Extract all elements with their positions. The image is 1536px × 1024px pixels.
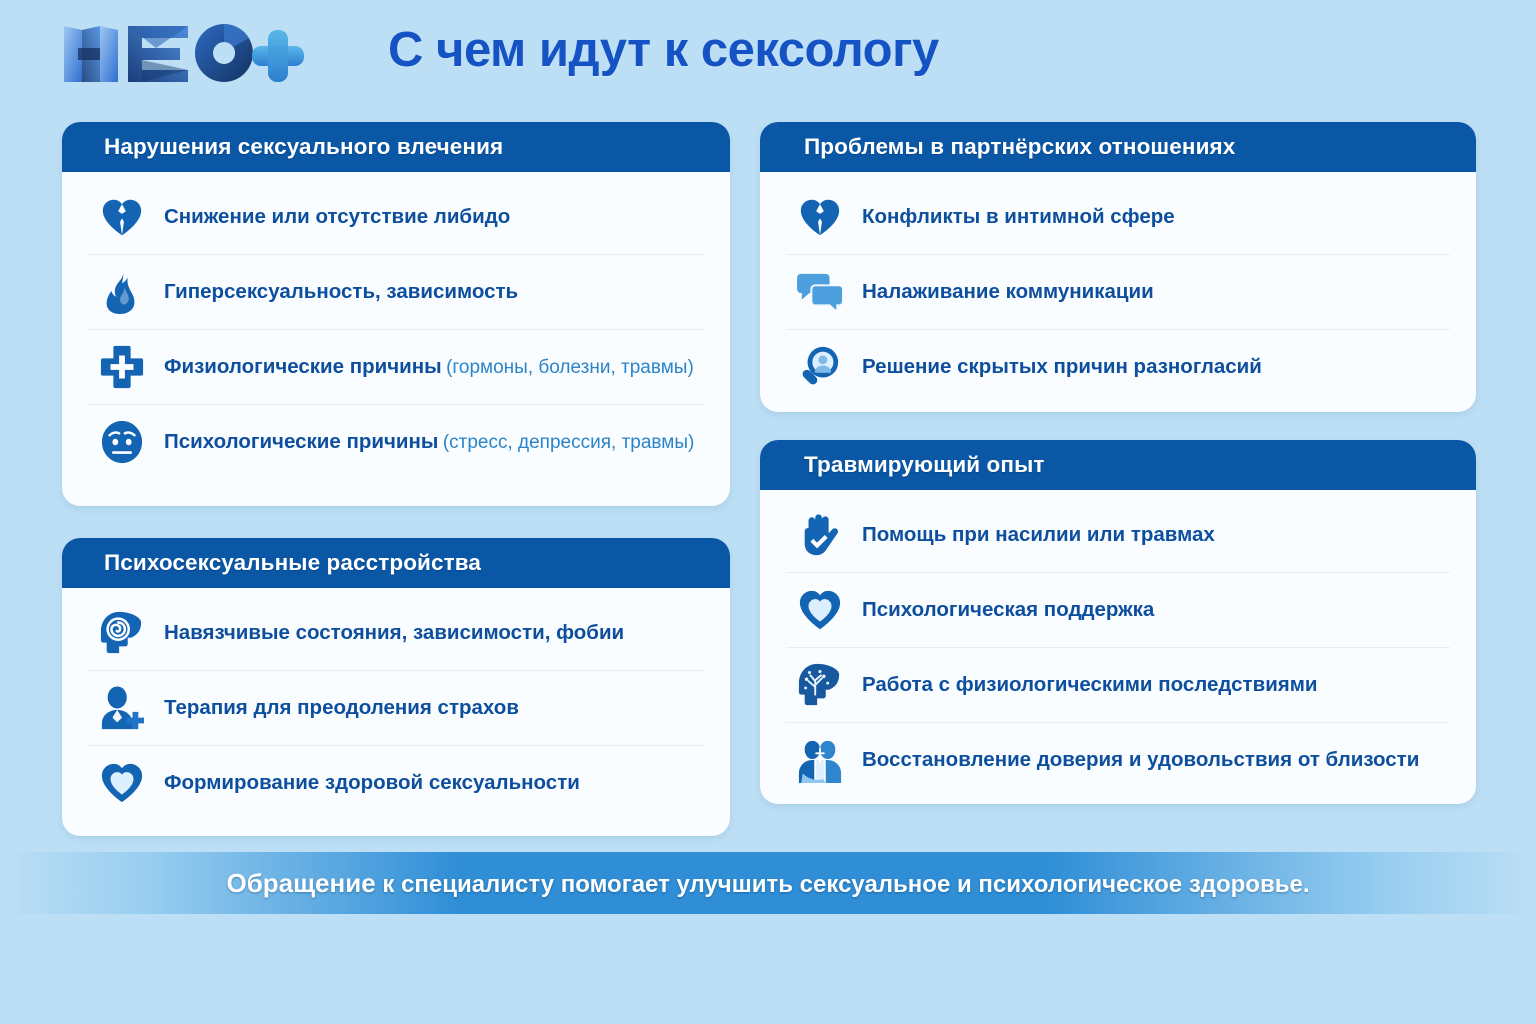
list-item-text: Решение скрытых причин разногласий bbox=[862, 356, 1262, 379]
card-header: Травмирующий опыт bbox=[760, 440, 1476, 490]
list-item[interactable]: Работа с физиологическими последствиями bbox=[786, 648, 1450, 723]
list-item-sublabel: (гормоны, болезни, травмы) bbox=[446, 357, 694, 378]
list-item-label: Гиперсексуальность, зависимость bbox=[164, 280, 518, 303]
list-item[interactable]: Терапия для преодоления страхов bbox=[88, 671, 704, 746]
list-item[interactable]: Психологическая поддержка bbox=[786, 573, 1450, 648]
speech-bubbles-icon bbox=[794, 266, 846, 318]
stop-hand-icon bbox=[794, 509, 846, 561]
list-item[interactable]: Восстановление доверия и удовольствия от… bbox=[786, 723, 1450, 797]
person-plus-icon bbox=[96, 682, 148, 734]
list-item-text: Психологическая поддержка bbox=[862, 599, 1154, 622]
list-item[interactable]: Решение скрытых причин разногласий bbox=[786, 330, 1450, 404]
list-item-label: Физиологические причины bbox=[164, 355, 442, 378]
list-item-label: Терапия для преодоления страхов bbox=[164, 696, 519, 719]
header: С чем идут к сексологу bbox=[0, 0, 1536, 112]
list-item-label: Решение скрытых причин разногласий bbox=[862, 355, 1262, 378]
card-title: Психосексуальные расстройства bbox=[104, 550, 481, 576]
card-header: Проблемы в партнёрских отношениях bbox=[760, 122, 1476, 172]
card-body: Помощь при насилии или травмах Психологи… bbox=[760, 490, 1476, 804]
broken-heart-icon bbox=[794, 191, 846, 243]
neo-plus-logo bbox=[56, 18, 306, 90]
list-item[interactable]: Физиологические причины (гормоны, болезн… bbox=[88, 330, 704, 405]
magnifier-person-icon bbox=[794, 341, 846, 393]
footer-banner: Обращение к специалисту помогает улучшит… bbox=[0, 852, 1536, 914]
list-item-text: Восстановление доверия и удовольствия от… bbox=[862, 749, 1419, 772]
list-item-text: Снижение или отсутствие либидо bbox=[164, 206, 510, 229]
list-item-label: Психологические причины bbox=[164, 430, 438, 453]
card-title: Травмирующий опыт bbox=[804, 452, 1045, 478]
card-traumatic-experience: Травмирующий опыт Помощь при насилии или… bbox=[760, 440, 1476, 804]
list-item-label: Налаживание коммуникации bbox=[862, 280, 1154, 303]
footer-lead: Обращение bbox=[226, 868, 375, 898]
footer-rest: к специалисту помогает улучшить сексуаль… bbox=[376, 871, 1310, 898]
list-item-label: Работа с физиологическими последствиями bbox=[862, 673, 1318, 696]
list-item-text: Физиологические причины (гормоны, болезн… bbox=[164, 356, 694, 379]
card-body: Навязчивые состояния, зависимости, фобии… bbox=[62, 588, 730, 832]
medical-cross-icon bbox=[96, 341, 148, 393]
list-item-label: Помощь при насилии или травмах bbox=[862, 523, 1215, 546]
card-title: Нарушения сексуального влечения bbox=[104, 134, 503, 160]
couple-embrace-icon bbox=[794, 734, 846, 786]
list-item-label: Формирование здоровой сексуальности bbox=[164, 771, 580, 794]
list-item[interactable]: Формирование здоровой сексуальности bbox=[88, 746, 704, 820]
card-sexual-desire-disorders: Нарушения сексуального влечения Снижение… bbox=[62, 122, 730, 506]
heart-in-heart-icon bbox=[96, 757, 148, 809]
list-item-label: Навязчивые состояния, зависимости, фобии bbox=[164, 621, 624, 644]
card-title: Проблемы в партнёрских отношениях bbox=[804, 134, 1235, 160]
card-psychosexual-disorders: Психосексуальные расстройства Навязчивые… bbox=[62, 538, 730, 836]
infographic-canvas: С чем идут к сексологу Нарушения сексуал… bbox=[0, 0, 1536, 1024]
list-item-sublabel: (стресс, депрессия, травмы) bbox=[443, 432, 695, 453]
list-item-text: Налаживание коммуникации bbox=[862, 281, 1154, 304]
list-item-text: Конфликты в интимной сфере bbox=[862, 206, 1175, 229]
list-item-text: Помощь при насилии или травмах bbox=[862, 524, 1215, 547]
head-tree-icon bbox=[794, 659, 846, 711]
page-title: С чем идут к сексологу bbox=[388, 22, 939, 78]
list-item[interactable]: Гиперсексуальность, зависимость bbox=[88, 255, 704, 330]
footer-text: Обращение к специалисту помогает улучшит… bbox=[226, 868, 1309, 899]
list-item-label: Восстановление доверия и удовольствия от… bbox=[862, 748, 1419, 771]
head-spiral-icon bbox=[96, 607, 148, 659]
list-item-label: Конфликты в интимной сфере bbox=[862, 205, 1175, 228]
card-body: Снижение или отсутствие либидо Гиперсекс… bbox=[62, 172, 730, 491]
list-item-text: Формирование здоровой сексуальности bbox=[164, 772, 580, 795]
list-item[interactable]: Конфликты в интимной сфере bbox=[786, 180, 1450, 255]
list-item-text: Психологические причины (стресс, депресс… bbox=[164, 431, 694, 454]
list-item-label: Снижение или отсутствие либидо bbox=[164, 205, 510, 228]
broken-heart-icon bbox=[96, 191, 148, 243]
list-item[interactable]: Навязчивые состояния, зависимости, фобии bbox=[88, 596, 704, 671]
heart-in-heart-icon bbox=[794, 584, 846, 636]
list-item-text: Гиперсексуальность, зависимость bbox=[164, 281, 518, 304]
card-header: Нарушения сексуального влечения bbox=[62, 122, 730, 172]
list-item-text: Терапия для преодоления страхов bbox=[164, 697, 519, 720]
list-item[interactable]: Снижение или отсутствие либидо bbox=[88, 180, 704, 255]
sad-face-icon bbox=[96, 416, 148, 468]
card-body: Конфликты в интимной сфере Налаживание к… bbox=[760, 172, 1476, 412]
list-item-label: Психологическая поддержка bbox=[862, 598, 1154, 621]
list-item[interactable]: Помощь при насилии или травмах bbox=[786, 498, 1450, 573]
list-item[interactable]: Налаживание коммуникации bbox=[786, 255, 1450, 330]
list-item[interactable]: Психологические причины (стресс, депресс… bbox=[88, 405, 704, 479]
list-item-text: Навязчивые состояния, зависимости, фобии bbox=[164, 622, 624, 645]
flame-icon bbox=[96, 266, 148, 318]
card-header: Психосексуальные расстройства bbox=[62, 538, 730, 588]
list-item-text: Работа с физиологическими последствиями bbox=[862, 674, 1318, 697]
card-partner-relationship-problems: Проблемы в партнёрских отношениях Конфли… bbox=[760, 122, 1476, 412]
